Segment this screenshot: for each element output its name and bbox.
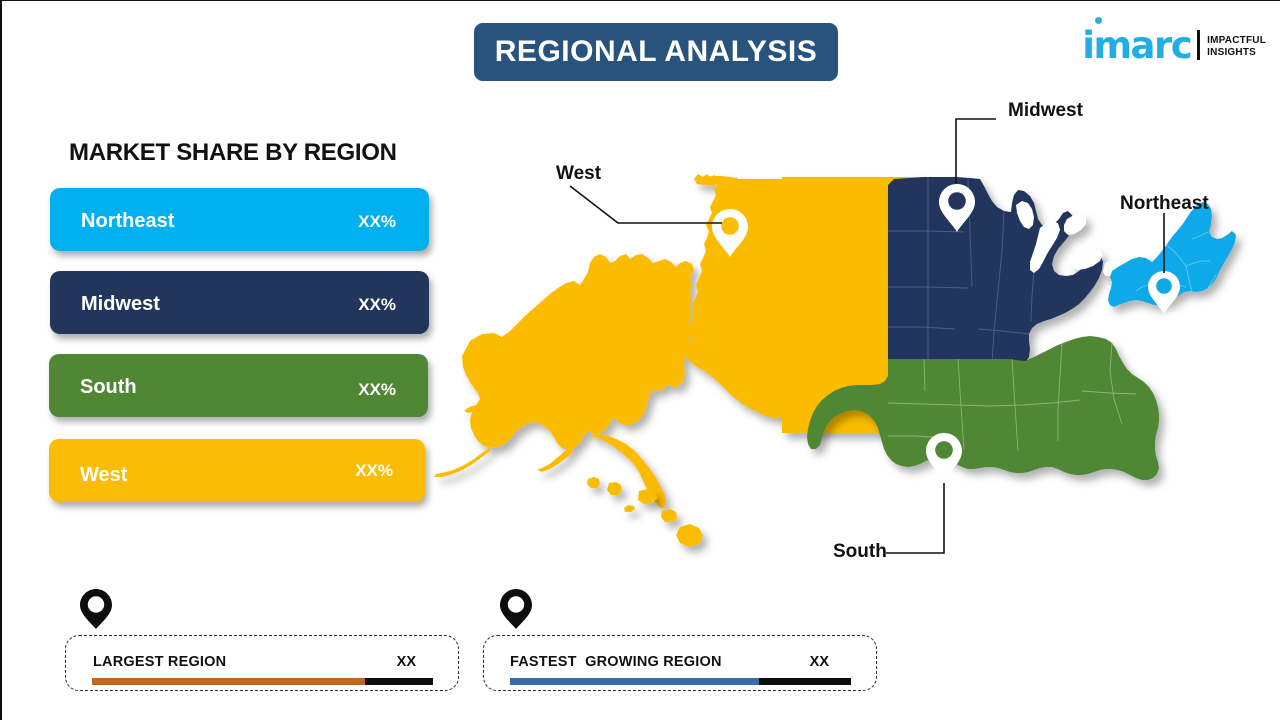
largest-region-pin-icon: [78, 587, 114, 631]
logo-tagline: IMPACTFUL INSIGHTS: [1207, 35, 1266, 59]
fastest-growing-region-meter-track: [759, 678, 851, 685]
share-bar-label-west: West: [80, 464, 127, 487]
page-title-banner: REGIONAL ANALYSIS: [474, 23, 838, 81]
page-title: REGIONAL ANALYSIS: [495, 35, 817, 69]
share-bar-value-northeast: XX%: [358, 212, 396, 232]
map-region-alaska[interactable]: [434, 254, 694, 509]
share-bar-value-midwest: XX%: [358, 295, 396, 315]
map-label-west: West: [556, 163, 601, 185]
largest-region-label: LARGEST REGION: [93, 654, 226, 670]
imarc-logo: imarc IMPACTFUL INSIGHTS: [1082, 15, 1266, 63]
share-bar-label-northeast: Northeast: [81, 210, 174, 233]
fastest-growing-region-value: XX: [810, 654, 829, 670]
share-bar-label-south: South: [80, 376, 137, 399]
map-region-midwest[interactable]: [888, 177, 1122, 363]
share-bar-south[interactable]: South XX%: [49, 354, 428, 417]
share-bar-label-midwest: Midwest: [81, 293, 160, 316]
largest-region-box[interactable]: LARGEST REGION XX: [65, 635, 459, 691]
share-bar-midwest[interactable]: Midwest XX%: [50, 271, 429, 334]
logo-tagline-line2: INSIGHTS: [1207, 47, 1266, 59]
fastest-growing-region-meter: [510, 678, 851, 685]
fastest-growing-region-pin-icon: [498, 587, 534, 631]
share-bar-west[interactable]: West XX%: [49, 439, 425, 502]
map-label-midwest: Midwest: [1008, 100, 1083, 122]
largest-region-meter: [92, 678, 433, 685]
largest-region-meter-fill: [92, 678, 365, 685]
map-pin-south[interactable]: [926, 433, 962, 481]
largest-region-value: XX: [397, 654, 416, 670]
leader-line-midwest: [956, 119, 996, 183]
fastest-growing-region-meter-fill: [510, 678, 759, 685]
share-bar-value-west: XX%: [355, 461, 393, 481]
share-bar-northeast[interactable]: Northeast XX%: [50, 188, 429, 251]
map-pin-northeast[interactable]: [1148, 271, 1180, 314]
fastest-growing-region-box[interactable]: FASTEST GROWING REGION XX: [483, 635, 877, 691]
map-label-south: South: [833, 541, 887, 563]
logo-wordmark: imarc: [1082, 29, 1191, 63]
leader-line-south: [886, 483, 944, 553]
fastest-growing-region-label: FASTEST GROWING REGION: [510, 654, 722, 670]
largest-region-meter-track: [365, 678, 433, 685]
us-regional-map: West Midwest Northeast South: [422, 91, 1280, 571]
market-share-heading: MARKET SHARE BY REGION: [69, 139, 397, 167]
us-map-svg: [422, 91, 1280, 571]
map-label-northeast: Northeast: [1120, 193, 1209, 215]
share-bar-value-south: XX%: [358, 380, 396, 400]
map-region-hawaii[interactable]: [587, 477, 703, 547]
leader-line-west: [570, 186, 722, 223]
logo-dot-icon: [1095, 17, 1102, 24]
logo-divider: [1197, 30, 1200, 60]
logo-tagline-line1: IMPACTFUL: [1207, 35, 1266, 47]
